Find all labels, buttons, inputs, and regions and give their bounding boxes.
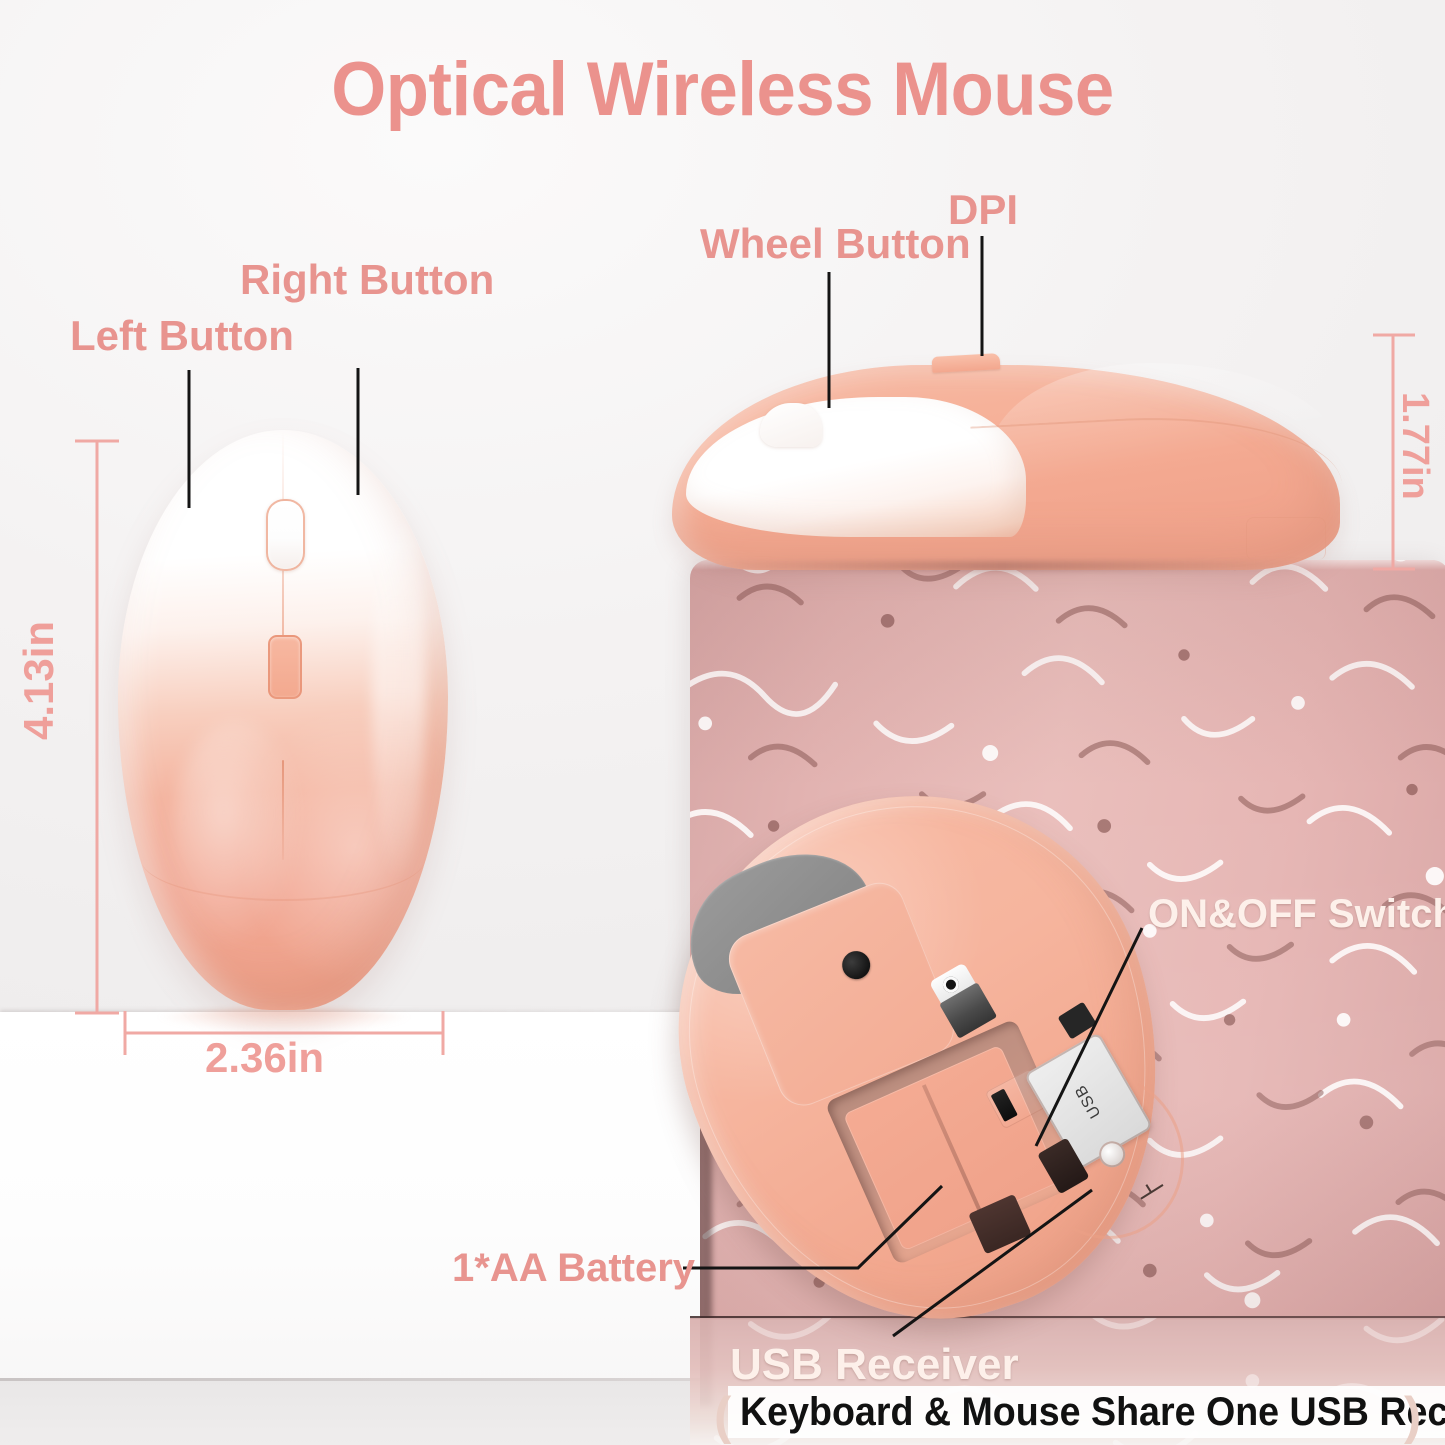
mouse-button-seam-lower [282,760,284,860]
callout-battery: 1*AA Battery [452,1246,695,1291]
dimension-depth: 1.77in [1393,392,1436,500]
dimension-height: 4.13in [15,621,63,740]
callout-dpi: DPI [948,186,1018,234]
banner-close-paren: ) [1404,1386,1421,1445]
banner-open-paren: ( [714,1386,731,1445]
table-front [0,1381,700,1445]
page-title: Optical Wireless Mouse [51,46,1395,133]
callout-right-button: Right Button [240,256,494,304]
callout-usb-receiver: USB Receiver [730,1340,1019,1390]
scroll-wheel[interactable] [266,499,305,571]
mouse-side-view [672,355,1340,570]
scroll-wheel-side[interactable] [760,403,822,447]
table-surface [0,1012,700,1407]
product-infographic: USB Optical Wireless Mouse Left Button R… [0,0,1445,1445]
dpi-button[interactable] [268,635,302,699]
banner-text: Keyboard & Mouse Share One USB Receiver [740,1390,1445,1435]
mouse-side-shadow [692,561,1312,571]
callout-left-button: Left Button [70,312,294,360]
battery-divider [922,1084,983,1214]
mouse-top-reflection [150,1008,418,1034]
mouse-top-view [118,430,448,1010]
callout-wheel-button: Wheel Button [700,220,971,268]
dimension-width: 2.36in [205,1034,324,1082]
callout-on-off-switch: ON&OFF Switch [1148,892,1445,937]
mouse-top-edge-highlight [372,500,425,883]
mouse-side-rear-seam [1246,517,1326,560]
